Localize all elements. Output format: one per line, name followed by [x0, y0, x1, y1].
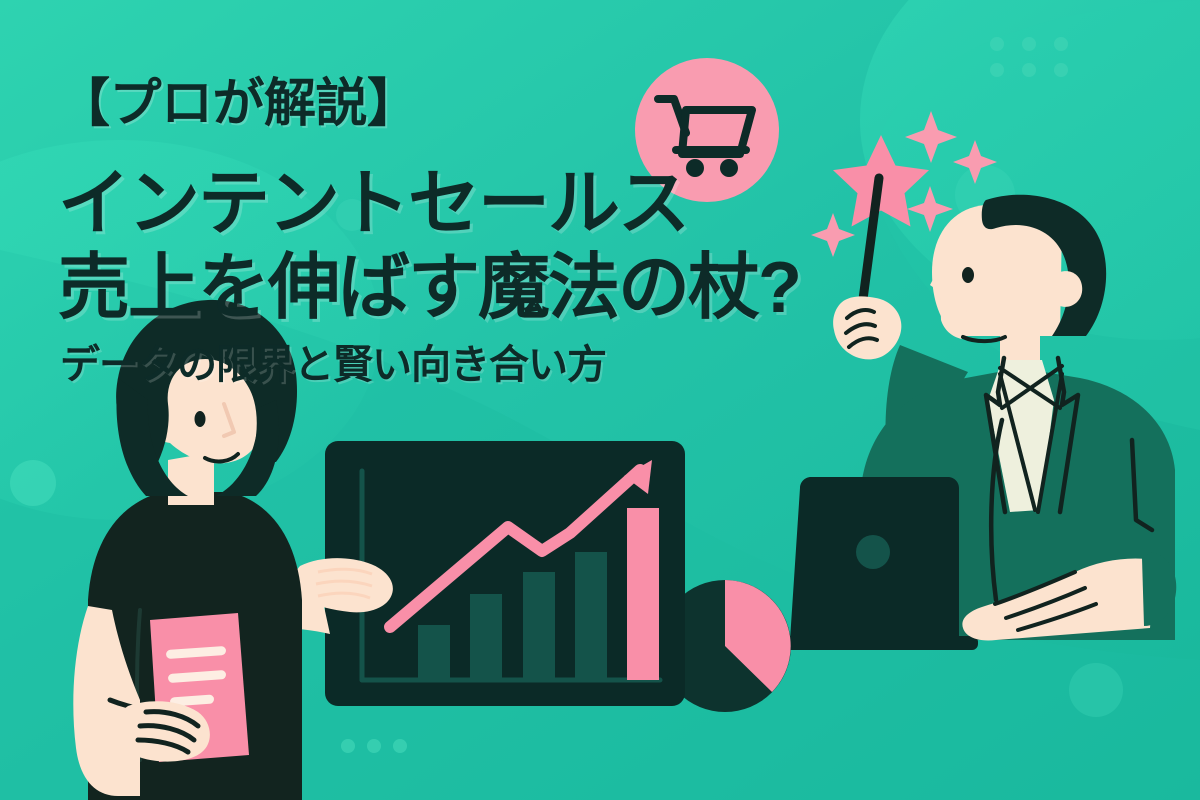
- headline-line-2: 売上を伸ばす魔法の杖?: [58, 252, 800, 324]
- text-layer: 【プロが解説】 インテントセールス 売上を伸ばす魔法の杖? データの限界と賢い向…: [0, 0, 1200, 800]
- thumbnail-canvas: 【プロが解説】 インテントセールス 売上を伸ばす魔法の杖? データの限界と賢い向…: [0, 0, 1200, 800]
- subheadline: データの限界と賢い向き合い方: [60, 345, 606, 385]
- headline-line-1: インテントセールス: [58, 168, 688, 240]
- eyebrow-label: 【プロが解説】: [58, 78, 419, 130]
